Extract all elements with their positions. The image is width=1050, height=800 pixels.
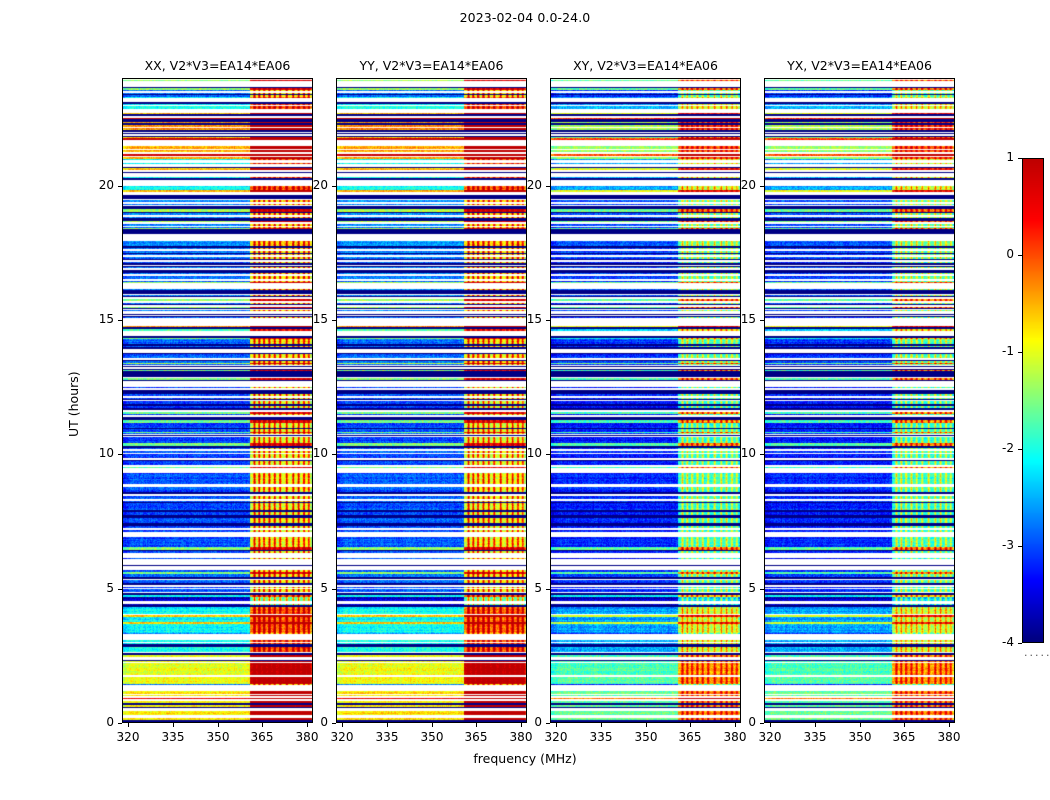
- y-tick-label: 10: [296, 446, 328, 460]
- y-axis-label: UT (hours): [66, 371, 81, 437]
- y-tick-label: 5: [724, 581, 756, 595]
- colorbar-tick-mark: [1018, 449, 1022, 450]
- x-tick-label: 350: [206, 730, 230, 744]
- heatmap-panel-yx[interactable]: YX, V2*V3=EA14*EA06: [764, 78, 955, 723]
- y-tick-label: 20: [510, 178, 542, 192]
- x-tick-mark: [815, 723, 816, 727]
- y-tick-label: 15: [296, 312, 328, 326]
- y-tick-label: 15: [82, 312, 114, 326]
- heatmap-panel-yy[interactable]: YY, V2*V3=EA14*EA06: [336, 78, 527, 723]
- y-tick-label: 0: [724, 715, 756, 729]
- y-tick-label: 20: [296, 178, 328, 192]
- y-tick-label: 15: [724, 312, 756, 326]
- colorbar-tick-mark: [1018, 546, 1022, 547]
- x-tick-mark: [770, 723, 771, 727]
- y-tick-mark: [760, 186, 764, 187]
- x-axis-label: frequency (MHz): [0, 751, 1050, 766]
- x-tick-mark: [476, 723, 477, 727]
- x-tick-label: 320: [116, 730, 140, 744]
- x-tick-mark: [218, 723, 219, 727]
- x-tick-label: 380: [723, 730, 747, 744]
- heatmap-panel-xx[interactable]: XX, V2*V3=EA14*EA06: [122, 78, 313, 723]
- colorbar-tick-mark: [1018, 643, 1022, 644]
- x-tick-label: 380: [509, 730, 533, 744]
- x-tick-label: 365: [250, 730, 274, 744]
- x-tick-label: 365: [464, 730, 488, 744]
- x-tick-mark: [387, 723, 388, 727]
- y-tick-label: 15: [510, 312, 542, 326]
- y-tick-label: 20: [82, 178, 114, 192]
- colorbar-tick-label: 0: [986, 247, 1014, 261]
- x-tick-label: 320: [330, 730, 354, 744]
- x-tick-label: 350: [848, 730, 872, 744]
- figure-suptitle: 2023-02-04 0.0-24.0: [0, 10, 1050, 25]
- colorbar-tick-label: -3: [986, 538, 1014, 552]
- heatmap-panel-xy[interactable]: XY, V2*V3=EA14*EA06: [550, 78, 741, 723]
- colorbar-tick-label: -2: [986, 441, 1014, 455]
- panel-title-yy: YY, V2*V3=EA14*EA06: [336, 58, 527, 73]
- panel-title-xx: XX, V2*V3=EA14*EA06: [122, 58, 313, 73]
- x-tick-label: 335: [803, 730, 827, 744]
- x-tick-mark: [342, 723, 343, 727]
- x-tick-label: 350: [420, 730, 444, 744]
- heatmap-image-xx: [122, 78, 313, 723]
- y-tick-mark: [118, 454, 122, 455]
- y-tick-mark: [332, 320, 336, 321]
- x-tick-label: 335: [161, 730, 185, 744]
- x-tick-mark: [949, 723, 950, 727]
- x-tick-mark: [646, 723, 647, 727]
- x-tick-label: 320: [544, 730, 568, 744]
- x-tick-mark: [173, 723, 174, 727]
- y-tick-label: 0: [82, 715, 114, 729]
- y-tick-mark: [760, 723, 764, 724]
- x-tick-label: 320: [758, 730, 782, 744]
- x-tick-mark: [432, 723, 433, 727]
- y-tick-label: 10: [510, 446, 542, 460]
- y-tick-label: 10: [82, 446, 114, 460]
- y-tick-label: 20: [724, 178, 756, 192]
- x-tick-mark: [128, 723, 129, 727]
- y-tick-mark: [332, 589, 336, 590]
- y-tick-mark: [760, 320, 764, 321]
- y-tick-label: 5: [296, 581, 328, 595]
- y-tick-label: 0: [296, 715, 328, 729]
- y-tick-mark: [546, 454, 550, 455]
- colorbar-underflow-marks: ......: [1024, 646, 1050, 659]
- x-tick-label: 350: [634, 730, 658, 744]
- y-tick-mark: [546, 320, 550, 321]
- x-tick-label: 365: [892, 730, 916, 744]
- x-tick-label: 380: [937, 730, 961, 744]
- x-tick-mark: [860, 723, 861, 727]
- figure-canvas: 2023-02-04 0.0-24.0 XX, V2*V3=EA14*EA063…: [0, 0, 1050, 800]
- y-tick-mark: [760, 589, 764, 590]
- y-tick-mark: [760, 454, 764, 455]
- heatmap-image-yy: [336, 78, 527, 723]
- colorbar-tick-label: -1: [986, 344, 1014, 358]
- colorbar-tick-mark: [1018, 255, 1022, 256]
- y-tick-mark: [118, 186, 122, 187]
- y-tick-label: 10: [724, 446, 756, 460]
- x-tick-mark: [601, 723, 602, 727]
- x-tick-label: 335: [375, 730, 399, 744]
- panel-title-yx: YX, V2*V3=EA14*EA06: [764, 58, 955, 73]
- x-tick-label: 380: [295, 730, 319, 744]
- colorbar-tick-mark: [1018, 352, 1022, 353]
- y-tick-mark: [546, 723, 550, 724]
- colorbar[interactable]: [1022, 158, 1044, 643]
- y-tick-mark: [332, 186, 336, 187]
- colorbar-tick-label: -4: [986, 635, 1014, 649]
- x-tick-mark: [904, 723, 905, 727]
- heatmap-image-xy: [550, 78, 741, 723]
- y-tick-mark: [118, 589, 122, 590]
- y-tick-mark: [546, 589, 550, 590]
- x-tick-mark: [690, 723, 691, 727]
- colorbar-gradient: [1023, 159, 1043, 642]
- x-tick-label: 335: [589, 730, 613, 744]
- y-tick-mark: [118, 723, 122, 724]
- y-tick-label: 5: [510, 581, 542, 595]
- y-tick-mark: [546, 186, 550, 187]
- y-tick-mark: [332, 454, 336, 455]
- y-tick-label: 0: [510, 715, 542, 729]
- x-tick-mark: [262, 723, 263, 727]
- heatmap-image-yx: [764, 78, 955, 723]
- panel-title-xy: XY, V2*V3=EA14*EA06: [550, 58, 741, 73]
- y-tick-label: 5: [82, 581, 114, 595]
- colorbar-tick-label: 1: [986, 150, 1014, 164]
- x-tick-mark: [556, 723, 557, 727]
- x-tick-label: 365: [678, 730, 702, 744]
- colorbar-tick-mark: [1018, 158, 1022, 159]
- y-tick-mark: [332, 723, 336, 724]
- y-tick-mark: [118, 320, 122, 321]
